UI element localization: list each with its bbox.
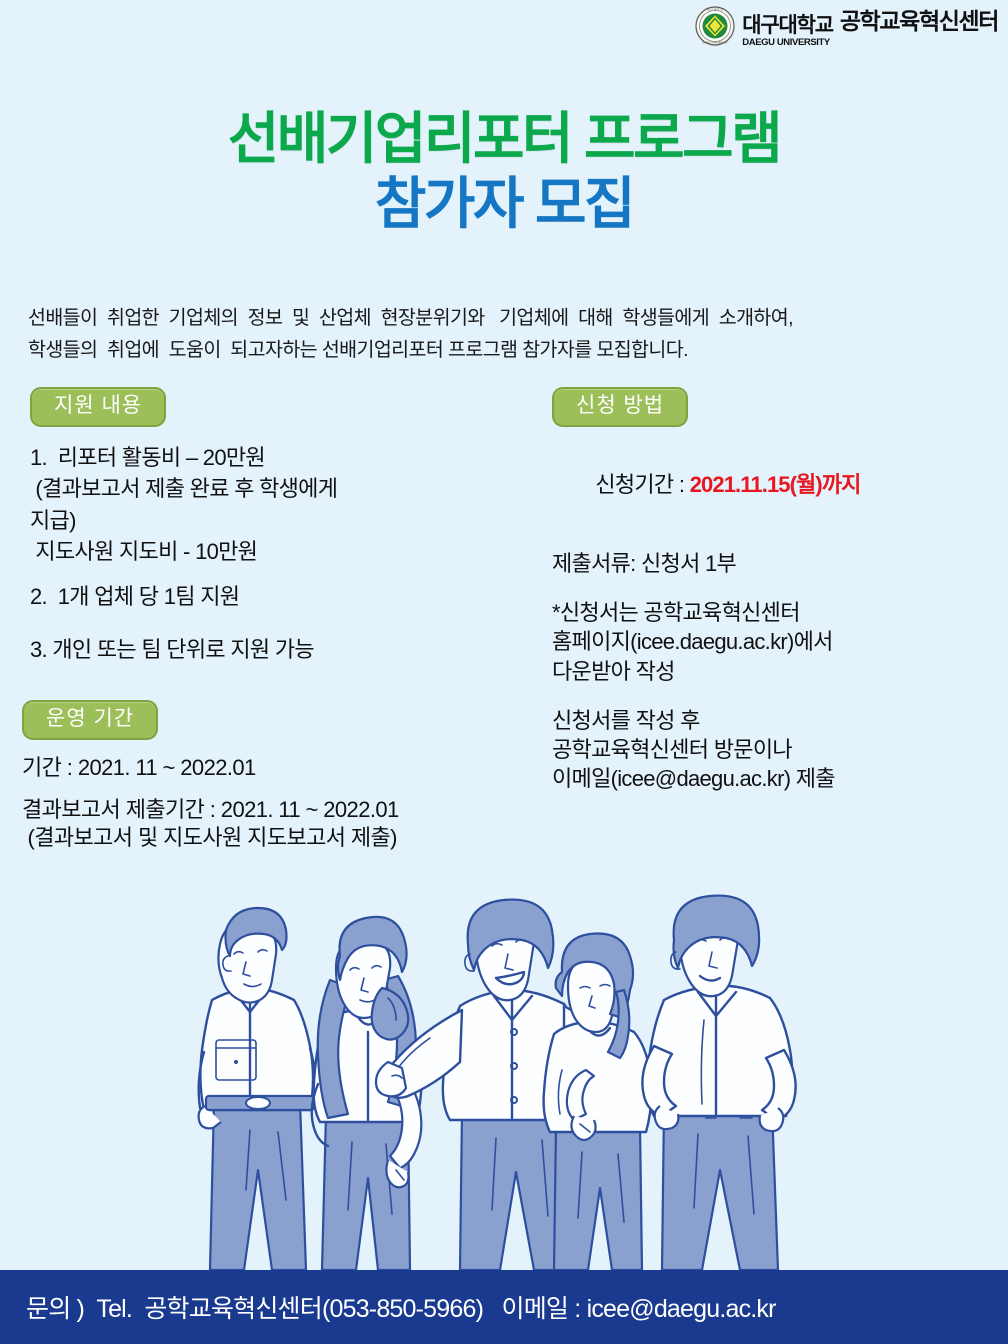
period-section: 운영 기간 기간 : 2021. 11 ~ 2022.01 결과보고서 제출기간…: [22, 700, 622, 853]
apply-documents: 제출서류: 신청서 1부: [552, 549, 982, 578]
apply-note-line-3: 다운받아 작성: [552, 657, 982, 686]
support-list: 1. 리포터 활동비 – 20만원 (결과보고서 제출 완료 후 학생에게 지급…: [30, 443, 530, 665]
support-item-1: 1. 리포터 활동비 – 20만원: [30, 443, 530, 472]
support-item-1-note-b: 지급): [30, 506, 530, 535]
contact-footer-bar: 문의 ) Tel. 공학교육혁신센터(053-850-5966) 이메일 : i…: [0, 1270, 1008, 1344]
support-item-2: 2. 1개 업체 당 1팀 지원: [30, 582, 530, 611]
title-line-1: 선배기업리포터 프로그램: [0, 108, 1008, 171]
five-students-group-illustration: .sk { fill:none; stroke:#2d4f9e; stroke-…: [0, 870, 1008, 1270]
apply-content: 신청기간 : 2021.11.15(월)까지 제출서류: 신청서 1부 *신청서…: [552, 441, 982, 794]
apply-submit-line-2: 공학교육혁신센터 방문이나: [552, 735, 982, 764]
support-section-badge: 지원 내용: [30, 387, 166, 427]
poster-title: 선배기업리포터 프로그램 참가자 모집: [0, 108, 1008, 235]
apply-note-line-2: 홈페이지(icee.daegu.ac.kr)에서: [552, 627, 982, 656]
apply-note-line-1: *신청서는 공학교육혁신센터: [552, 598, 982, 627]
apply-deadline-label: 신청기간 :: [595, 472, 689, 497]
logo-center-name: 공학교육혁신센터: [840, 2, 998, 36]
support-item-1-note-c: 지도사원 지도비 - 10만원: [30, 537, 530, 566]
apply-submit: 신청서를 작성 후 공학교육혁신센터 방문이나 이메일(icee@daegu.a…: [552, 706, 982, 794]
intro-paragraph: 선배들이 취업한 기업체의 정보 및 산업체 현장분위기와 기업체에 대해 학생…: [28, 303, 983, 366]
period-line-1: 기간 : 2021. 11 ~ 2022.01: [22, 754, 622, 782]
apply-section-badge: 신청 방법: [552, 387, 688, 427]
poster-root: 대 구 대 학 교 DAEGU UNIVERSITY 대구대학교 DAEGU U…: [0, 0, 1008, 1344]
apply-deadline-row: 신청기간 : 2021.11.15(월)까지: [552, 441, 982, 529]
apply-note: *신청서는 공학교육혁신센터 홈페이지(icee.daegu.ac.kr)에서 …: [552, 598, 982, 686]
period-section-badge: 운영 기간: [22, 700, 158, 740]
support-item-1-note-a: (결과보고서 제출 완료 후 학생에게: [30, 474, 530, 503]
apply-deadline-value: 2021.11.15(월)까지: [690, 472, 861, 497]
contact-footer-text: 문의 ) Tel. 공학교육혁신센터(053-850-5966) 이메일 : i…: [0, 1289, 776, 1325]
apply-submit-line-3: 이메일(icee@daegu.ac.kr) 제출: [552, 764, 982, 793]
support-section: 지원 내용 1. 리포터 활동비 – 20만원 (결과보고서 제출 완료 후 학…: [30, 387, 530, 667]
svg-text:대 구 대 학 교: 대 구 대 학 교: [708, 7, 724, 11]
period-line-2: 결과보고서 제출기간 : 2021. 11 ~ 2022.01 (결과보고서 및…: [22, 796, 622, 852]
support-item-3: 3. 개인 또는 팀 단위로 지원 가능: [30, 635, 530, 664]
university-logo: 대 구 대 학 교 DAEGU UNIVERSITY 대구대학교 DAEGU U…: [695, 4, 998, 48]
logo-english-name: DAEGU UNIVERSITY: [742, 38, 830, 48]
apply-submit-line-1: 신청서를 작성 후: [552, 706, 982, 735]
logo-text: 대구대학교 DAEGU UNIVERSITY 공학교육혁신센터: [742, 5, 998, 48]
daegu-university-seal-icon: 대 구 대 학 교 DAEGU UNIVERSITY: [695, 6, 735, 46]
apply-section: 신청 방법 신청기간 : 2021.11.15(월)까지 제출서류: 신청서 1…: [552, 387, 982, 794]
title-line-2: 참가자 모집: [0, 173, 1008, 236]
intro-line-2: 학생들의 취업에 도움이 되고자하는 선배기업리포터 프로그램 참가자를 모집합…: [28, 335, 983, 367]
svg-text:DAEGU UNIVERSITY: DAEGU UNIVERSITY: [703, 41, 729, 45]
period-lines: 기간 : 2021. 11 ~ 2022.01 결과보고서 제출기간 : 202…: [22, 754, 622, 852]
logo-korean-name: 대구대학교: [742, 15, 833, 36]
intro-line-1: 선배들이 취업한 기업체의 정보 및 산업체 현장분위기와 기업체에 대해 학생…: [28, 303, 983, 335]
